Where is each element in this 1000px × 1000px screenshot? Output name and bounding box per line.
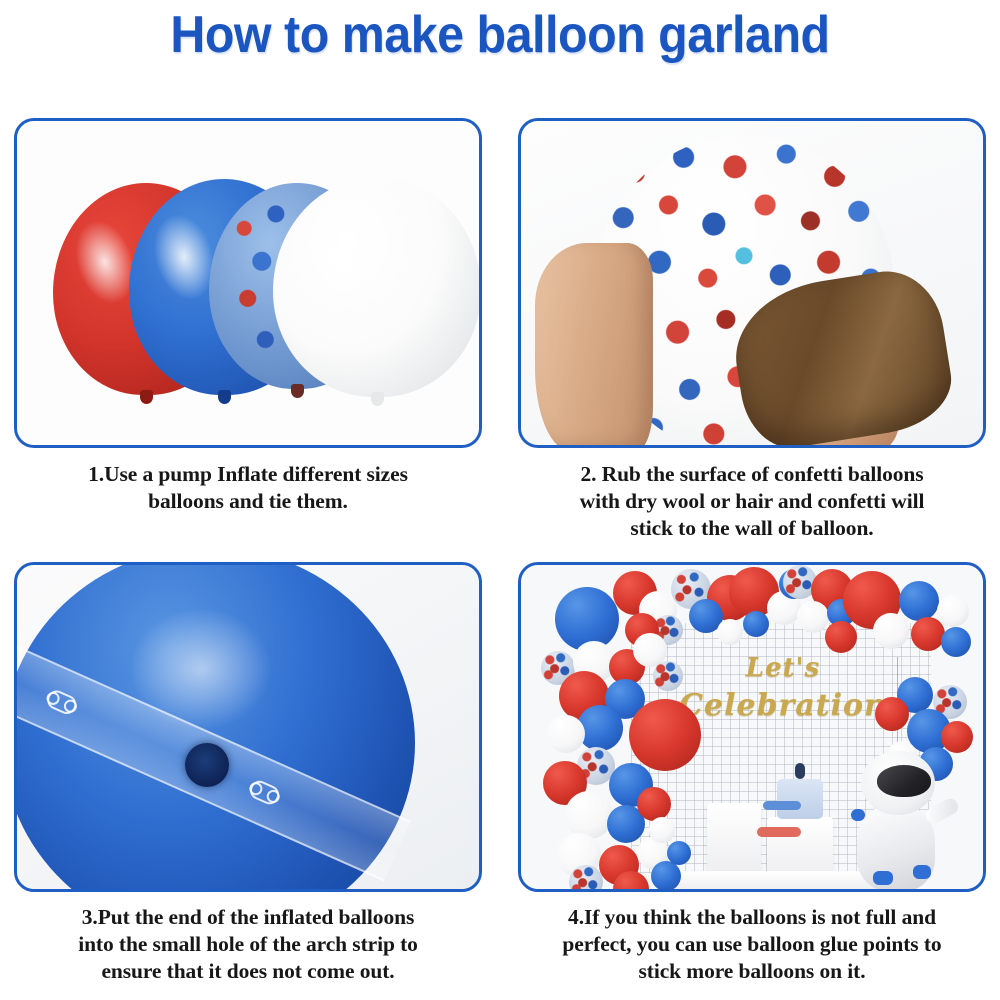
caption-line: 2. Rub the surface of confetti balloons bbox=[518, 461, 986, 488]
astronaut-accent bbox=[851, 809, 865, 821]
garland-balloon bbox=[941, 721, 973, 753]
caption-line: balloons and tie them. bbox=[14, 488, 482, 515]
garland-balloon bbox=[717, 619, 743, 645]
step-4-photo-frame: Let's Celebration bbox=[518, 562, 986, 892]
garland-balloon bbox=[797, 601, 829, 633]
garland-balloon bbox=[547, 715, 585, 753]
step-2-caption: 2. Rub the surface of confetti balloons … bbox=[518, 461, 986, 542]
garland-balloon bbox=[565, 791, 613, 839]
garland-balloon bbox=[941, 627, 971, 657]
balloon-white bbox=[273, 177, 479, 397]
step-card-4: Let's Celebration bbox=[518, 562, 986, 985]
garland-balloon bbox=[911, 617, 945, 651]
caption-line: 3.Put the end of the inflated balloons bbox=[14, 904, 482, 931]
step-4-caption: 4.If you think the balloons is not full … bbox=[518, 904, 986, 985]
arch-strip-hole bbox=[247, 778, 282, 808]
cake-topper bbox=[795, 763, 805, 779]
astronaut-accent bbox=[873, 871, 893, 885]
garland-balloon bbox=[873, 613, 909, 649]
steps-grid: 1.Use a pump Inflate different sizes bal… bbox=[0, 0, 1000, 1000]
caption-line: stick to the wall of balloon. bbox=[518, 515, 986, 542]
step-card-1: 1.Use a pump Inflate different sizes bal… bbox=[14, 118, 482, 515]
garland-balloon bbox=[651, 861, 681, 889]
balloon-knot bbox=[291, 384, 304, 398]
astronaut-accent bbox=[913, 865, 931, 879]
astronaut-visor bbox=[877, 765, 931, 797]
step-1-photo bbox=[17, 121, 479, 445]
caption-line: with dry wool or hair and confetti will bbox=[518, 488, 986, 515]
caption-line: into the small hole of the arch strip to bbox=[14, 931, 482, 958]
balloon-knot bbox=[140, 390, 153, 404]
garland-balloon bbox=[653, 661, 683, 691]
caption-line: ensure that it does not come out. bbox=[14, 958, 482, 985]
garland-balloon bbox=[667, 841, 691, 865]
hand-holding-balloon bbox=[535, 243, 653, 445]
garland-balloon bbox=[899, 581, 939, 621]
caption-line: 4.If you think the balloons is not full … bbox=[518, 904, 986, 931]
step-card-2: 2. Rub the surface of confetti balloons … bbox=[518, 118, 986, 542]
caption-line: stick more balloons on it. bbox=[518, 958, 986, 985]
garland-balloon bbox=[743, 611, 769, 637]
caption-line: perfect, you can use balloon glue points… bbox=[518, 931, 986, 958]
garland-balloon bbox=[937, 595, 969, 627]
garland-balloon bbox=[649, 817, 675, 843]
step-2-photo-frame bbox=[518, 118, 986, 448]
balloon-knot bbox=[218, 390, 231, 404]
garland-balloon bbox=[637, 787, 671, 821]
step-4-photo: Let's Celebration bbox=[521, 565, 983, 889]
cupcake-tier bbox=[757, 827, 801, 837]
step-2-photo bbox=[521, 121, 983, 445]
cupcake-tier bbox=[763, 801, 801, 810]
balloon-highlight bbox=[296, 204, 388, 315]
garland-balloon bbox=[825, 621, 857, 653]
step-1-caption: 1.Use a pump Inflate different sizes bal… bbox=[14, 461, 482, 515]
step-card-3: 3.Put the end of the inflated balloons i… bbox=[14, 562, 482, 985]
cake bbox=[777, 779, 823, 819]
arch-strip-hole bbox=[44, 688, 79, 718]
balloon-neck-inserted bbox=[185, 743, 229, 787]
step-3-photo-frame bbox=[14, 562, 482, 892]
step-3-photo bbox=[17, 565, 479, 889]
garland-balloon bbox=[629, 699, 701, 771]
step-3-caption: 3.Put the end of the inflated balloons i… bbox=[14, 904, 482, 985]
step-1-photo-frame bbox=[14, 118, 482, 448]
garland-balloon bbox=[875, 697, 909, 731]
caption-line: 1.Use a pump Inflate different sizes bbox=[14, 461, 482, 488]
balloon-knot bbox=[371, 392, 384, 406]
